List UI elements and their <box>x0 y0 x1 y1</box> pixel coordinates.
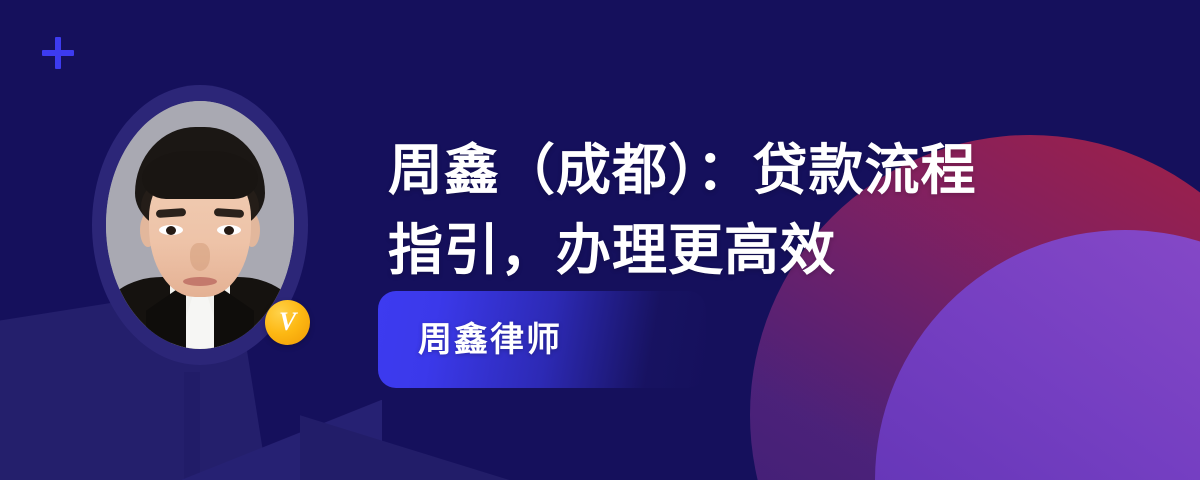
lawyer-portrait-photo <box>106 101 294 349</box>
portrait-eye-right <box>217 225 241 235</box>
plus-icon <box>42 37 74 69</box>
right-wedge-decoration <box>300 415 510 480</box>
text-content: 周鑫（成都）：贷款流程 指引，办理更高效 <box>388 130 1088 290</box>
verified-badge-letter: V <box>279 309 296 335</box>
lawyer-name-pill[interactable]: 周鑫律师 <box>378 291 706 388</box>
page-title: 周鑫（成都）：贷款流程 指引，办理更高效 <box>388 130 1088 290</box>
portrait-background <box>106 101 294 349</box>
portrait-nose <box>190 243 210 271</box>
avatar-stem-decoration <box>184 372 200 480</box>
verified-badge-icon: V <box>265 300 310 345</box>
lawyer-name-label: 周鑫律师 <box>418 323 562 357</box>
portrait-mouth <box>183 277 217 286</box>
promo-banner: V 周鑫（成都）：贷款流程 指引，办理更高效 周鑫律师 <box>0 0 1200 480</box>
triangle-wedge-decoration <box>182 400 382 480</box>
portrait-fringe <box>142 151 258 199</box>
portrait-eye-left <box>159 225 183 235</box>
